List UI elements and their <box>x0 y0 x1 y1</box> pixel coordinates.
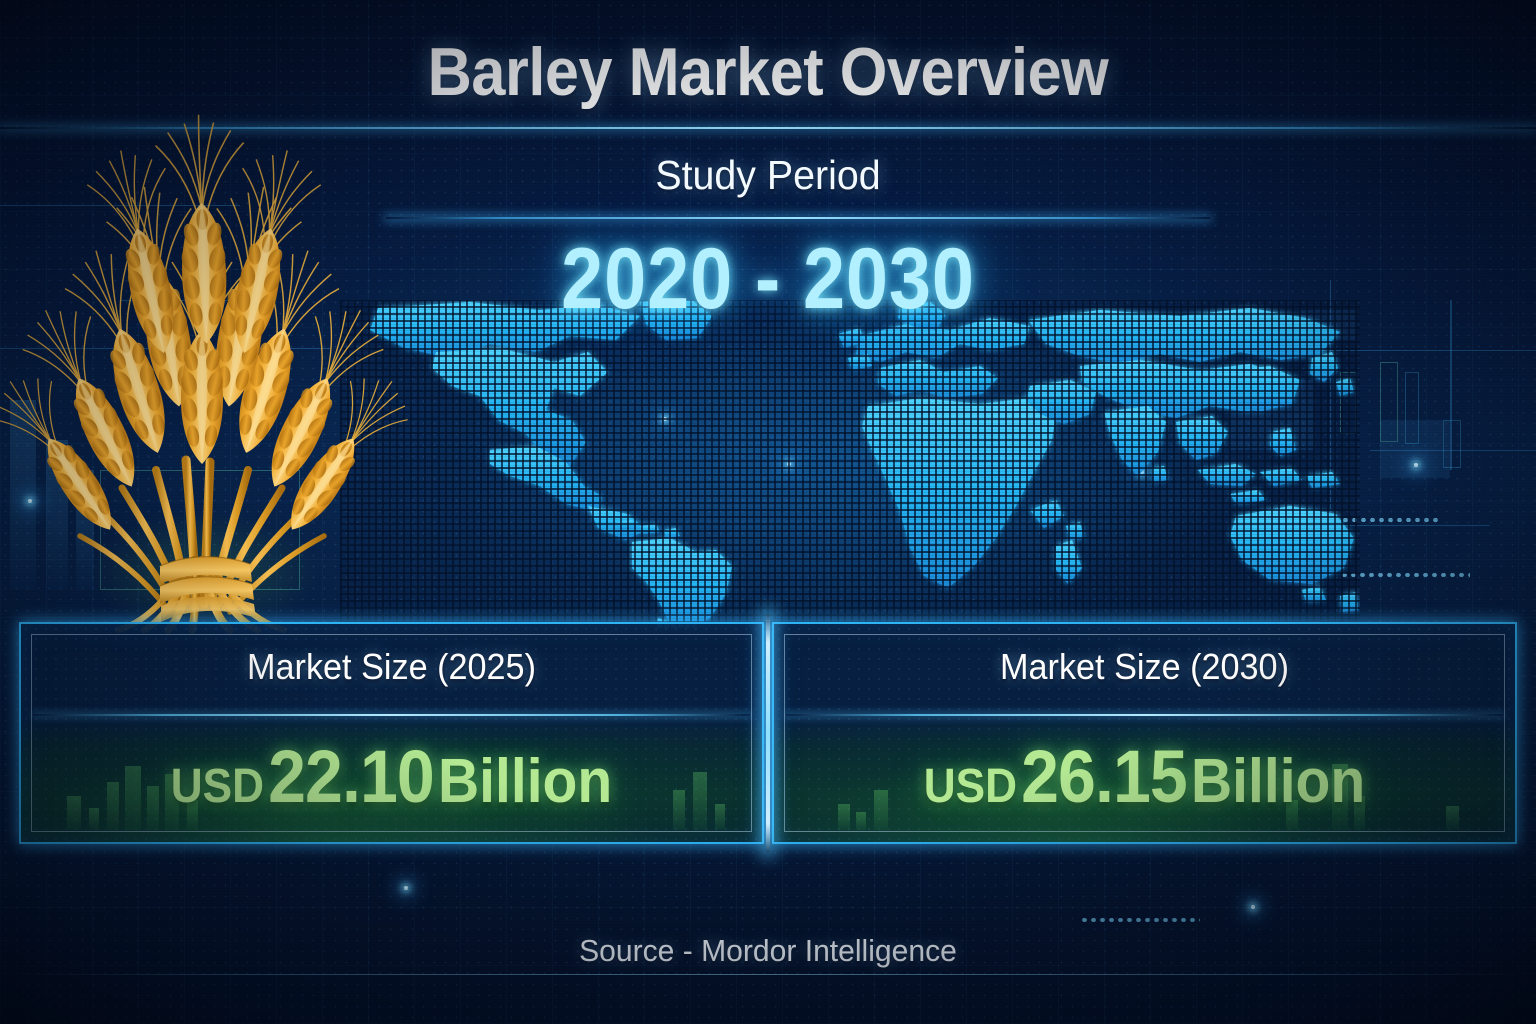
infographic-canvas: Barley Market Overview Study Period 2020… <box>0 0 1536 1024</box>
background-vignette <box>0 0 1536 1024</box>
